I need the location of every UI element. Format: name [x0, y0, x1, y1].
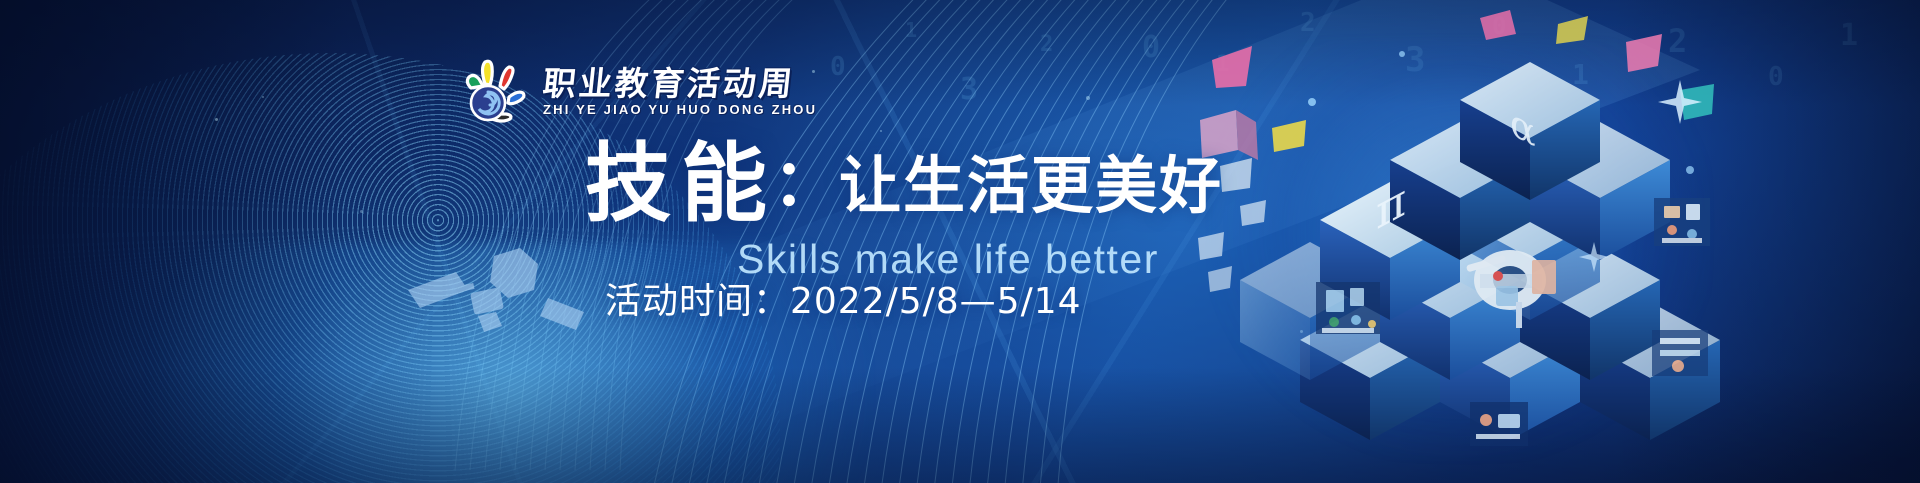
- digit-glyph: 1: [905, 18, 917, 42]
- headline-colon: ：: [773, 132, 837, 224]
- digit-glyph: 2: [1040, 32, 1053, 57]
- event-date-line: 活动时间：2022/5/8—5/14: [605, 272, 1082, 324]
- logo-name-cn: 职业教育活动周: [541, 67, 819, 100]
- digit-glyph: 0: [830, 52, 846, 82]
- logo-text-block: 职业教育活动周 ZHI YE JIAO YU HUO DONG ZHOU: [543, 67, 817, 116]
- headline-block: 技能 ： 让生活更美好 Skills make life better: [585, 140, 1345, 283]
- library-scene: [1652, 330, 1708, 376]
- event-logo[interactable]: 职业教育活动周 ZHI YE JIAO YU HUO DONG ZHOU: [455, 58, 817, 124]
- headline-sub: 让生活更美好: [839, 155, 1223, 217]
- laboratory-scene: [1316, 282, 1380, 334]
- headline-title-row: 技能 ： 让生活更美好: [585, 140, 1345, 232]
- logo-mark-icon: [455, 58, 533, 124]
- digit-glyph: 0: [1142, 30, 1160, 65]
- promo-banner: 0 1 2 3 0 1 2 0 1 3 2 0 1: [0, 0, 1920, 483]
- digit-glyph: 1: [1840, 18, 1858, 53]
- digit-glyph: 3: [960, 72, 978, 107]
- logo-name-pinyin: ZHI YE JIAO YU HUO DONG ZHOU: [543, 103, 817, 116]
- headline-main: 技能: [585, 141, 777, 227]
- satellite-icon: [398, 246, 588, 346]
- classroom-scene: [1654, 198, 1710, 246]
- workshop-scene: [1470, 402, 1528, 446]
- digit-glyph: 0: [1768, 62, 1784, 92]
